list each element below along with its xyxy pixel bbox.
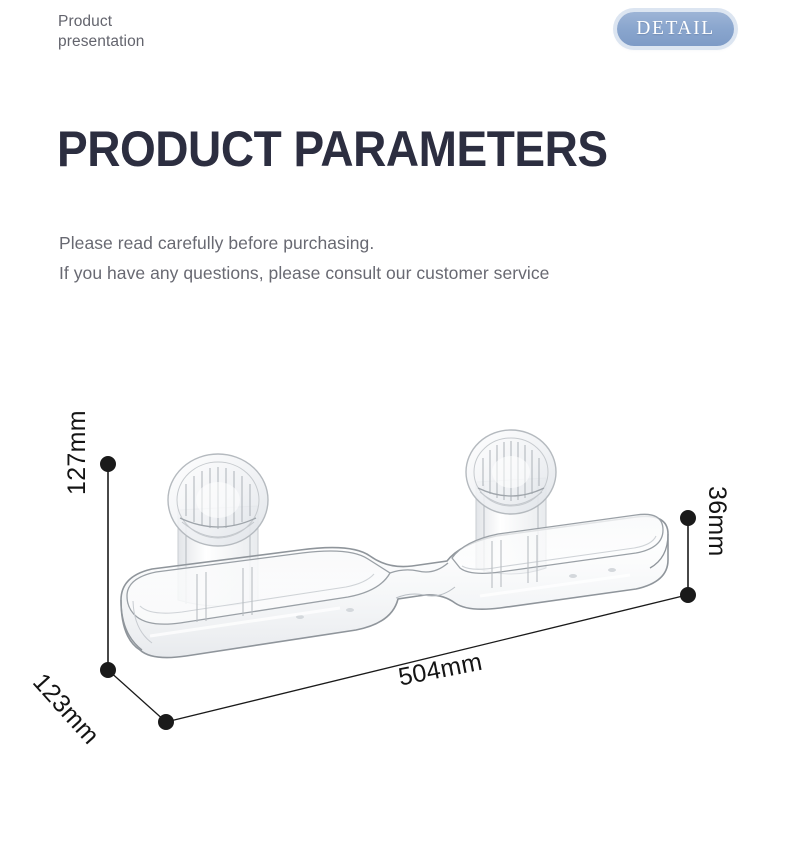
product-illustration [121, 430, 668, 658]
dimension-label-height: 127mm [63, 410, 92, 495]
dimension-label-lip-height: 36mm [702, 486, 731, 557]
product-parameters-page: Product presentation DETAIL PRODUCT PARA… [0, 0, 790, 852]
product-figure [0, 0, 790, 852]
